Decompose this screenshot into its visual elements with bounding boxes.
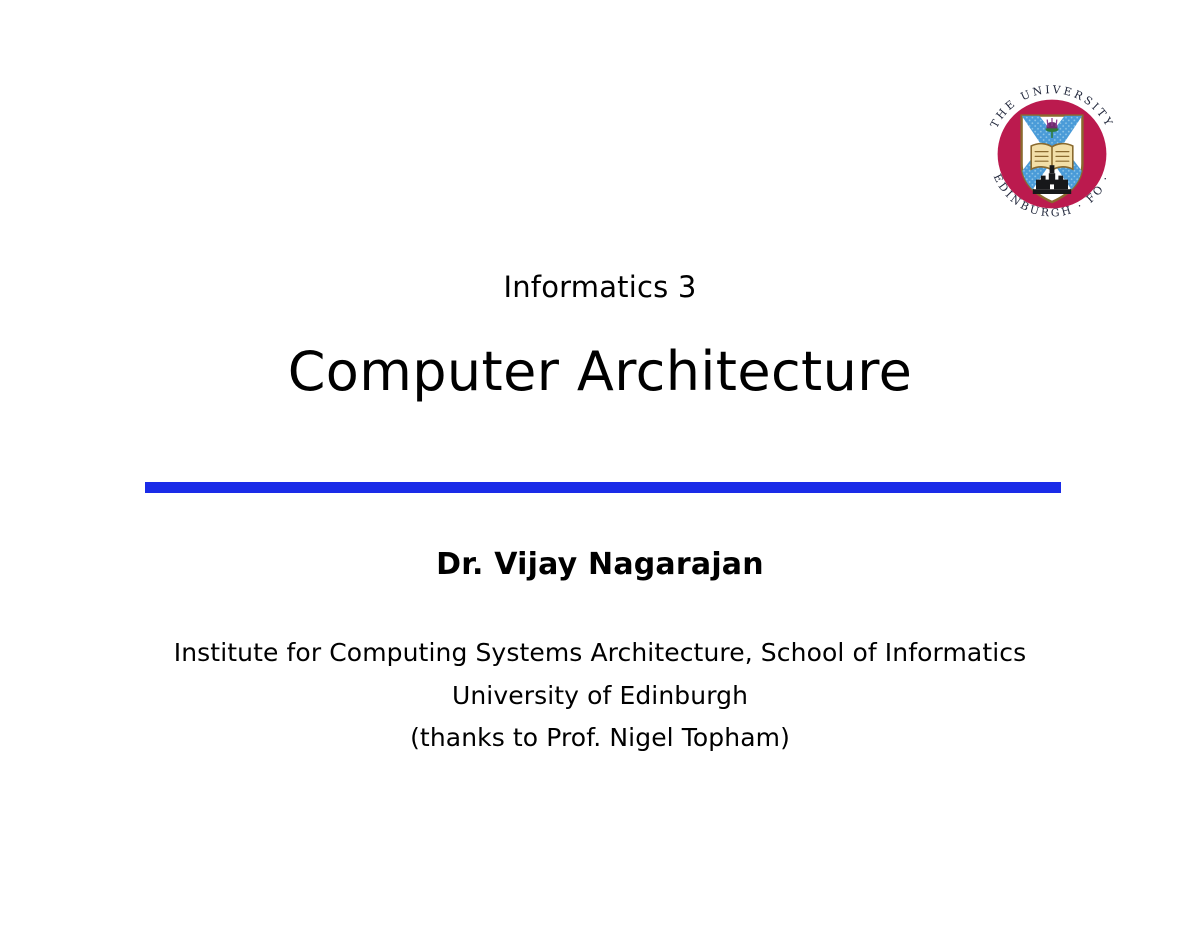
page-title: Computer Architecture xyxy=(0,342,1200,402)
title-slide: THE UNIVERSITY EDINBURGH · FO · xyxy=(0,0,1200,927)
blue-divider-rule xyxy=(145,482,1061,493)
university-of-edinburgh-crest-icon: THE UNIVERSITY EDINBURGH · FO · xyxy=(972,74,1132,234)
author-name: Dr. Vijay Nagarajan xyxy=(0,548,1200,583)
affiliation-block: Institute for Computing Systems Architec… xyxy=(0,632,1200,760)
affiliation-line-institute: Institute for Computing Systems Architec… xyxy=(0,632,1200,675)
affiliation-line-university: University of Edinburgh xyxy=(0,675,1200,718)
course-subtitle: Informatics 3 xyxy=(0,272,1200,304)
affiliation-line-credit: (thanks to Prof. Nigel Topham) xyxy=(0,717,1200,760)
